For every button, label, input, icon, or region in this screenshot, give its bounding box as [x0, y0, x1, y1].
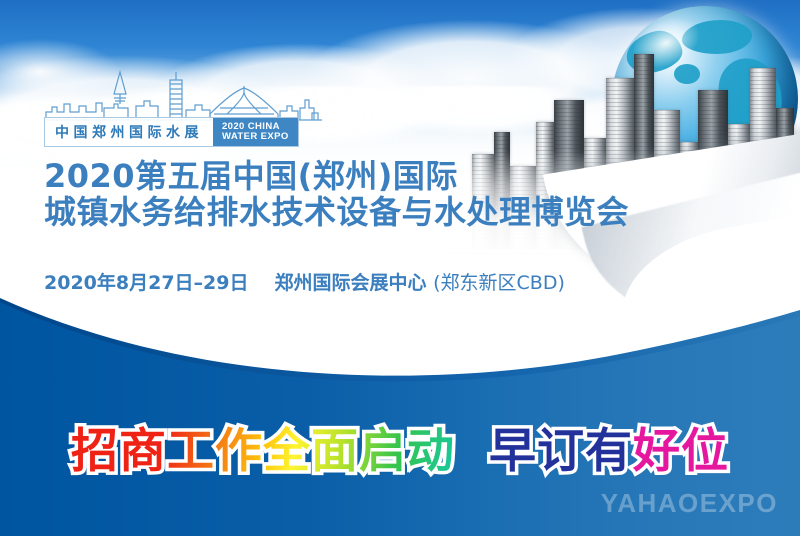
expo-logo-bar: 中国郑州国际水展 2020 CHINA WATER EXPO [44, 117, 299, 147]
watermark-text: YAHAOEXPO [601, 488, 778, 519]
slogan-part1-fill: 招商工作全面启动 [71, 424, 455, 479]
slogan-block: 招商工作全面启动 招商工作全面启动 早订有 早订有 好位 好位 [0, 414, 800, 478]
headline-line2: 城镇水务给排水技术设备与水处理博览会 [44, 194, 744, 230]
slogan-part1: 招商工作全面启动 招商工作全面启动 [71, 412, 455, 481]
headline-line1: 2020第五届中国(郑州)国际 [44, 158, 744, 194]
zhengzhou-skyline-outline-icon [44, 68, 324, 122]
logo-chinese-name: 中国郑州国际水展 [45, 118, 213, 146]
logo-english-name: 2020 CHINA WATER EXPO [213, 118, 298, 146]
slogan-part2: 早订有 早订有 [489, 412, 633, 481]
slogan-part3-fill: 好位 [633, 424, 729, 479]
slogan-part2-fill: 早订有 [489, 424, 633, 479]
promo-banner: 中国郑州国际水展 2020 CHINA WATER EXPO 2020第五届中国… [0, 0, 800, 536]
logo-english-line2: WATER EXPO [222, 132, 289, 142]
headline-block: 2020第五届中国(郑州)国际 城镇水务给排水技术设备与水处理博览会 [44, 158, 744, 231]
slogan-part3: 好位 好位 [633, 412, 729, 481]
